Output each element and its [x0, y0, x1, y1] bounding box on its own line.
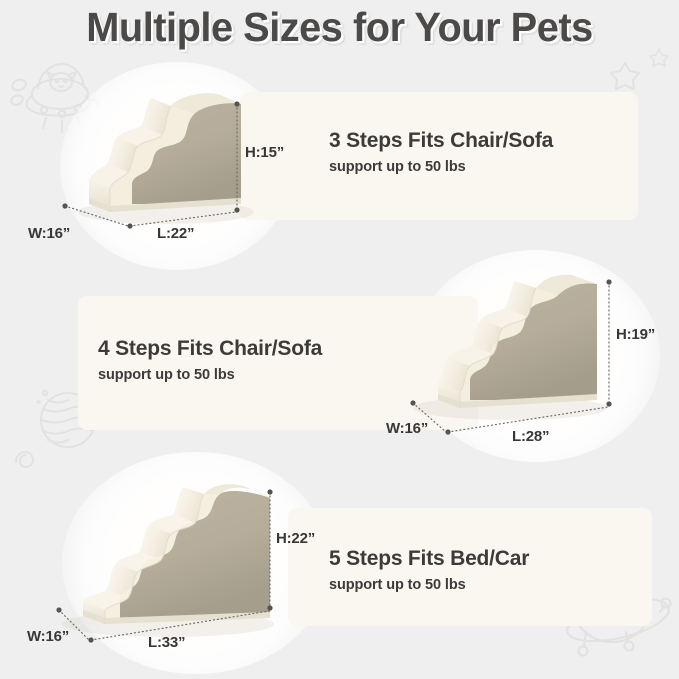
dimension-length-five-step: L:33” — [148, 634, 185, 651]
product-image-three-step — [66, 88, 256, 248]
dimension-width-three-step: W:16” — [28, 225, 70, 242]
text-block-three-step: 3 Steps Fits Chair/Sofa support up to 50… — [329, 129, 553, 175]
dimension-height-three-step: H:15” — [245, 144, 284, 161]
dimension-length-three-step: L:22” — [157, 225, 194, 242]
text-block-four-step: 4 Steps Fits Chair/Sofa support up to 50… — [98, 337, 322, 383]
dimension-height-four-step: H:19” — [616, 326, 655, 343]
product-subtitle-five-step: support up to 50 lbs — [329, 577, 529, 593]
star-outline-icon — [608, 58, 642, 92]
text-block-five-step: 5 Steps Fits Bed/Car support up to 50 lb… — [329, 547, 529, 593]
dimension-width-four-step: W:16” — [386, 420, 428, 437]
product-image-four-step — [400, 272, 615, 442]
page-title: Multiple Sizes for Your Pets — [10, 4, 669, 51]
product-image-five-step — [48, 478, 288, 660]
spiral-icon — [12, 448, 40, 476]
dimension-width-five-step: W:16” — [27, 628, 69, 645]
product-size-infographic: Multiple Sizes for Your Pets — [0, 0, 679, 679]
product-title-five-step: 5 Steps Fits Bed/Car — [329, 547, 529, 570]
dimension-height-five-step: H:22” — [276, 530, 315, 547]
product-title-three-step: 3 Steps Fits Chair/Sofa — [329, 129, 553, 152]
product-subtitle-three-step: support up to 50 lbs — [329, 159, 553, 175]
product-title-four-step: 4 Steps Fits Chair/Sofa — [98, 337, 322, 360]
dimension-length-four-step: L:28” — [512, 428, 549, 445]
product-subtitle-four-step: support up to 50 lbs — [98, 367, 322, 383]
